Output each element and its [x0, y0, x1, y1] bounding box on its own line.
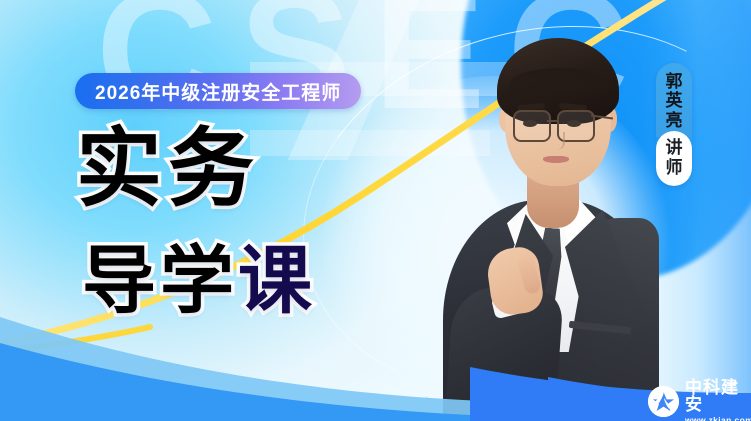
instructor-badge[interactable]: 郭 英 亮 讲 师	[656, 63, 692, 186]
course-category-badge-label: 2026年中级注册安全工程师	[95, 78, 341, 105]
brand-logo[interactable]: 中科建安 www.zkjan.com	[648, 379, 751, 421]
instructor-name-char-3: 亮	[656, 111, 692, 130]
page-subtitle: 导学课	[82, 244, 316, 318]
brand-logo-text: 中科建安 www.zkjan.com	[685, 379, 751, 421]
instructor-photo	[435, 32, 665, 421]
course-promo-banner: CSEC	[0, 0, 751, 421]
zkjan-star-logo-icon	[648, 386, 679, 417]
eyeglasses-lens-left	[513, 110, 551, 142]
nose	[551, 132, 565, 150]
instructor-role: 讲 师	[656, 131, 692, 186]
course-category-badge[interactable]: 2026年中级注册安全工程师	[75, 73, 361, 109]
instructor-name-char-1: 郭	[656, 72, 692, 91]
instructor-name: 郭 英 亮	[656, 63, 692, 137]
page-subtitle-black: 导学	[82, 239, 238, 322]
instructor-role-char-1: 讲	[656, 138, 692, 157]
brand-name: 中科建安	[685, 379, 751, 413]
mouth	[543, 156, 569, 163]
instructor-name-char-2: 英	[656, 91, 692, 110]
page-title: 实务	[76, 126, 260, 212]
eyeglasses-bridge	[547, 120, 557, 122]
page-subtitle-accent: 课	[238, 239, 316, 322]
brand-url: www.zkjan.com	[685, 416, 751, 421]
instructor-role-char-2: 师	[656, 158, 692, 177]
hair-fringe	[509, 68, 609, 102]
